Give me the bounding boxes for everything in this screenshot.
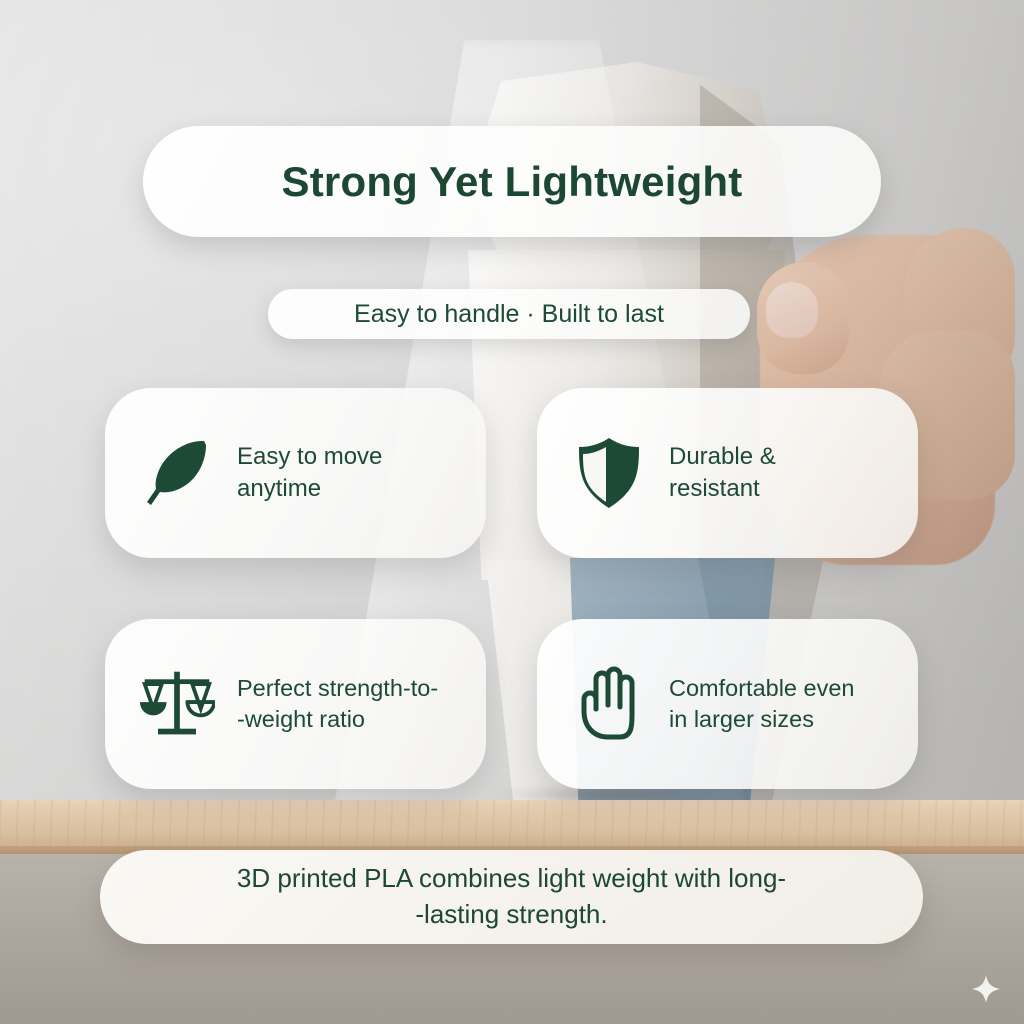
feature-label-line2: resistant — [669, 475, 760, 502]
feature-label: Comfortable even in larger sizes — [669, 673, 855, 735]
hand-icon — [571, 663, 647, 745]
feature-label-line2: anytime — [237, 475, 321, 502]
feature-label: Perfect strength-to- -weight ratio — [237, 673, 438, 735]
feature-card-strength-to-weight[interactable]: Perfect strength-to- -weight ratio — [105, 619, 486, 789]
title-banner: Strong Yet Lightweight — [143, 126, 881, 237]
feature-label-line1: Easy to move — [237, 443, 382, 470]
page-title: Strong Yet Lightweight — [282, 158, 743, 206]
caption-line2: -lasting strength. — [415, 899, 607, 929]
feature-label-line1: Perfect strength-to- — [237, 675, 438, 701]
caption-text: 3D printed PLA combines light weight wit… — [191, 861, 832, 933]
scales-icon — [139, 663, 215, 745]
feature-card-durable[interactable]: Durable & resistant — [537, 388, 918, 558]
feature-label-line1: Comfortable even — [669, 675, 855, 701]
feature-label-line2: -weight ratio — [237, 706, 365, 732]
caption-line1: 3D printed PLA combines light weight wit… — [237, 863, 786, 893]
shield-icon — [571, 432, 647, 514]
page-subtitle: Easy to handle · Built to last — [354, 300, 664, 329]
feature-card-comfortable[interactable]: Comfortable even in larger sizes — [537, 619, 918, 789]
promo-scene: Strong Yet Lightweight Easy to handle · … — [0, 0, 1024, 1024]
feature-label: Easy to move anytime — [237, 441, 382, 504]
caption-banner: 3D printed PLA combines light weight wit… — [100, 850, 923, 944]
feature-card-easy-to-move[interactable]: Easy to move anytime — [105, 388, 486, 558]
feature-label: Durable & resistant — [669, 441, 776, 504]
feature-label-line1: Durable & — [669, 443, 776, 470]
ui-overlay: Strong Yet Lightweight Easy to handle · … — [0, 0, 1024, 1024]
feather-icon — [139, 432, 215, 514]
feature-label-line2: in larger sizes — [669, 706, 814, 732]
subtitle-banner: Easy to handle · Built to last — [268, 289, 750, 339]
sparkle-icon — [972, 975, 1000, 1003]
